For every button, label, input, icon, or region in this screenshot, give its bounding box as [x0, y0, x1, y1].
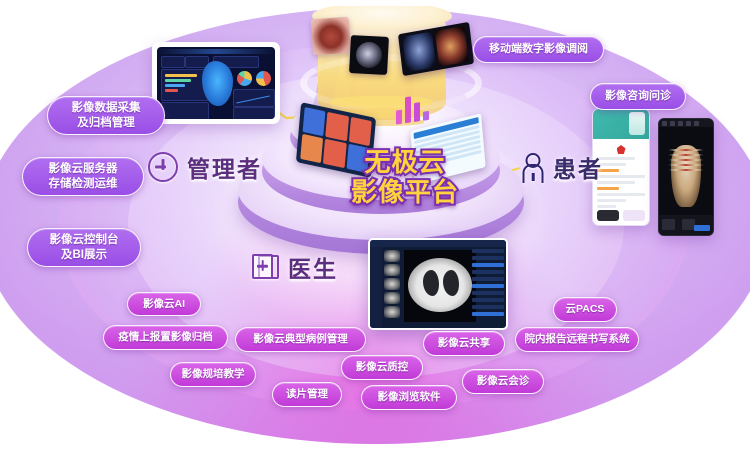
circle-plus-icon	[148, 152, 178, 182]
role-doctor[interactable]: 医生	[252, 250, 338, 284]
kpi-card	[161, 56, 185, 68]
bar	[396, 110, 402, 125]
ct-thumbnail	[384, 278, 400, 290]
dashboard-screen	[157, 47, 275, 119]
endoscopy-image-card	[311, 17, 351, 56]
bar	[414, 102, 420, 122]
tag-image-cloud-server[interactable]: 影像云服务器 存储检测运维	[22, 157, 144, 196]
mri-right-pane	[435, 26, 469, 67]
rib	[668, 159, 704, 161]
document-front-sheet	[252, 254, 273, 279]
role-doctor-label: 医生	[288, 250, 338, 284]
ultrasound-fan	[355, 41, 382, 68]
infographic-canvas: 无极云 影像平台 管理者 医生 患者 影像数据采集 及归档管理 影像云服务器	[0, 0, 750, 450]
lung-lobe-right	[443, 270, 459, 296]
tile	[326, 112, 349, 141]
panel-row	[472, 263, 504, 267]
bar	[165, 84, 185, 87]
thumbnail	[662, 219, 675, 230]
donut-chart	[237, 71, 252, 86]
tool-icon	[686, 121, 691, 126]
ct-side-panel	[472, 249, 504, 319]
tag-standardized-training[interactable]: 影像规培教学	[170, 362, 256, 387]
ct-thumbnail-strip	[382, 248, 402, 326]
document-plus-icon	[252, 254, 279, 281]
person-icon	[522, 153, 544, 181]
3d-skeleton-phone	[658, 118, 714, 236]
panel-row	[472, 312, 504, 316]
viewer-thumbnail-bar	[659, 215, 713, 235]
doctor-avatar-icon	[629, 112, 645, 135]
viewer-toolbar	[659, 119, 713, 127]
highlight-line	[597, 187, 619, 190]
tool-icon	[678, 121, 683, 126]
title-line-2: 影像平台	[330, 178, 480, 208]
thorax-slice	[408, 258, 472, 312]
lung-lobe-left	[423, 270, 439, 296]
text-line	[597, 193, 645, 196]
bar	[165, 79, 191, 82]
ct-toolbar	[370, 240, 506, 247]
tag-remote-report-writing[interactable]: 院内报告远程书写系统	[515, 327, 639, 352]
canvas-edge-top	[0, 0, 750, 6]
panel-row	[472, 305, 504, 309]
panel-row	[472, 298, 504, 302]
rib	[668, 149, 704, 151]
panel-row	[472, 277, 504, 281]
tag-image-cloud-sharing[interactable]: 影像云共享	[423, 331, 505, 356]
phone-app-header	[593, 109, 649, 139]
donut-chart	[256, 71, 271, 86]
person-leg	[532, 173, 535, 181]
action-button	[623, 210, 645, 221]
tile	[303, 107, 326, 136]
ct-tool-rail	[370, 247, 382, 328]
ribcage-3d-render	[668, 147, 704, 173]
data-list-panel	[161, 102, 209, 119]
role-patient[interactable]: 患者	[522, 150, 603, 184]
ct-thumbnail	[384, 306, 400, 318]
tag-mobile-image-access[interactable]: 移动端数字影像调阅	[473, 36, 604, 63]
tag-epidemic-report-archive[interactable]: 疫情上报置影像归档	[103, 325, 228, 350]
mri-left-pane	[402, 31, 436, 72]
bar	[405, 96, 411, 123]
tag-typical-case-management[interactable]: 影像云典型病例管理	[235, 327, 366, 352]
panel-row	[472, 256, 504, 260]
tool-icon	[662, 121, 667, 126]
tile	[300, 134, 323, 163]
tag-cloud-pacs[interactable]: 云PACS	[553, 297, 617, 322]
role-admin-label: 管理者	[187, 150, 262, 184]
bar	[423, 111, 429, 121]
ct-thumbnail	[384, 250, 400, 262]
ct-viewer-screen	[368, 238, 508, 330]
ct-thumbnail	[384, 292, 400, 304]
tag-text: 影像云控制台 及BI展示	[50, 233, 119, 262]
tag-text: 影像数据采集 及归档管理	[72, 101, 141, 130]
tag-image-cloud-console[interactable]: 影像云控制台 及BI展示	[27, 228, 141, 267]
bar	[165, 89, 178, 92]
hospital-logo-icon	[617, 145, 626, 154]
tag-image-cloud-consultation[interactable]: 影像云会诊	[462, 369, 544, 394]
role-admin[interactable]: 管理者	[148, 150, 262, 184]
rib	[668, 169, 704, 171]
text-line	[597, 205, 616, 208]
china-map-visual	[202, 61, 233, 106]
tag-image-data-collection[interactable]: 影像数据采集 及归档管理	[47, 96, 165, 135]
role-patient-label: 患者	[553, 150, 603, 184]
tag-quality-control[interactable]: 影像云质控	[341, 355, 423, 380]
data-list-panel	[233, 107, 275, 119]
viewer-badge	[694, 225, 710, 231]
page-title: 无极云 影像平台	[330, 148, 480, 208]
ct-main-image	[404, 250, 476, 322]
panel-row	[472, 270, 504, 274]
bi-dashboard-monitor	[152, 42, 280, 124]
tag-image-viewer-software[interactable]: 影像浏览软件	[361, 385, 457, 410]
canvas-edge-bottom	[0, 444, 750, 450]
bar	[165, 74, 197, 77]
tag-text: 影像云服务器 存储检测运维	[49, 162, 118, 191]
dashboard-title-bar	[157, 49, 275, 54]
title-line-1: 无极云	[330, 148, 480, 178]
ct-thumbnail	[384, 264, 400, 276]
rib	[668, 154, 704, 156]
text-line	[597, 199, 626, 202]
tool-icon	[670, 121, 675, 126]
ultrasound-image-card	[349, 35, 389, 75]
action-button	[597, 210, 619, 221]
rib	[668, 164, 704, 166]
tile	[349, 117, 372, 146]
tool-icon	[694, 121, 699, 126]
bar-chart-card	[392, 85, 436, 129]
tag-reading-management[interactable]: 读片管理	[272, 382, 342, 407]
text-line	[597, 175, 645, 178]
tag-image-consultation[interactable]: 影像咨询问诊	[590, 83, 686, 110]
phone-action-bar	[597, 210, 645, 221]
tag-image-cloud-ai[interactable]: 影像云AI	[127, 292, 201, 316]
panel-row	[472, 284, 504, 288]
panel-row	[472, 249, 504, 253]
panel-row	[472, 291, 504, 295]
